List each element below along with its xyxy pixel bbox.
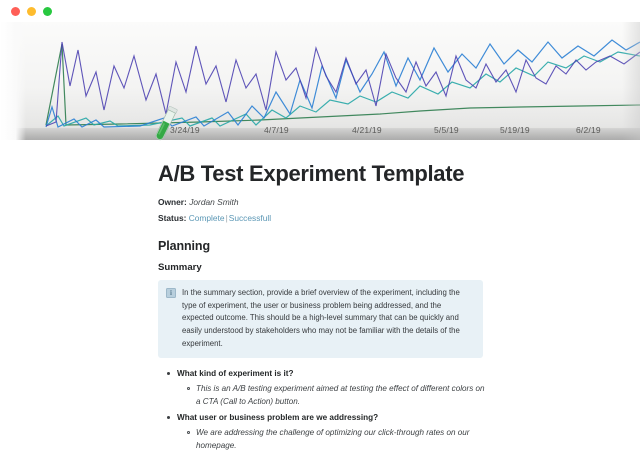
list-item: This is an A/B testing experiment aimed …	[158, 383, 488, 408]
maximize-button[interactable]	[43, 7, 52, 16]
question-list: What kind of experiment is it? This is a…	[158, 368, 488, 452]
bullet-answer: This is an A/B testing experiment aimed …	[196, 383, 488, 408]
sub-heading-summary: Summary	[158, 262, 488, 273]
axis-tick-label: 4/21/19	[352, 125, 382, 135]
close-button[interactable]	[11, 7, 20, 16]
document-content: A/B Test Experiment Template Owner: Jord…	[158, 162, 488, 452]
status-badge-complete[interactable]: Complete	[189, 213, 225, 223]
cover-line-chart	[0, 22, 640, 140]
window-controls	[11, 7, 52, 16]
status-row: Status: Complete|Successfull	[158, 212, 488, 224]
window-titlebar	[0, 0, 640, 22]
bullet-question-row: What kind of experiment is it?	[158, 368, 488, 380]
axis-tick-label: 5/19/19	[500, 125, 530, 135]
chart-x-axis-labels: 3/24/19 4/7/19 4/21/19 5/5/19 5/19/19 6/…	[0, 125, 640, 137]
axis-tick-label: 5/5/19	[434, 125, 459, 135]
minimize-button[interactable]	[27, 7, 36, 16]
bullet-disc-icon	[167, 372, 170, 375]
info-callout[interactable]: i In the summary section, provide a brie…	[158, 280, 483, 358]
owner-row: Owner: Jordan Smith	[158, 196, 488, 208]
bullet-answer: We are addressing the challenge of optim…	[196, 427, 488, 452]
owner-value: Jordan Smith	[189, 197, 238, 207]
cover-right-shadow	[622, 22, 640, 140]
list-item: We are addressing the challenge of optim…	[158, 427, 488, 452]
status-label: Status:	[158, 213, 186, 223]
bullet-circle-icon	[187, 387, 190, 390]
list-item: What user or business problem are we add…	[158, 412, 488, 452]
cover-left-highlight	[0, 22, 26, 140]
page-title: A/B Test Experiment Template	[158, 162, 488, 187]
answer-list: We are addressing the challenge of optim…	[158, 427, 488, 452]
section-heading-planning: Planning	[158, 239, 488, 253]
cover-image[interactable]: 3/24/19 4/7/19 4/21/19 5/5/19 5/19/19 6/…	[0, 22, 640, 140]
bullet-question: What user or business problem are we add…	[177, 412, 378, 424]
status-badge-successful[interactable]: Successfull	[229, 213, 271, 223]
axis-tick-label: 4/7/19	[264, 125, 289, 135]
bullet-question: What kind of experiment is it?	[177, 368, 293, 380]
callout-text: In the summary section, provide a brief …	[182, 287, 474, 350]
axis-tick-label: 6/2/19	[576, 125, 601, 135]
bullet-circle-icon	[187, 431, 190, 434]
list-item: What kind of experiment is it? This is a…	[158, 368, 488, 408]
bullet-disc-icon	[167, 416, 170, 419]
owner-label: Owner:	[158, 197, 187, 207]
answer-list: This is an A/B testing experiment aimed …	[158, 383, 488, 408]
bullet-question-row: What user or business problem are we add…	[158, 412, 488, 424]
info-icon: i	[166, 288, 176, 298]
document-body: A/B Test Experiment Template Owner: Jord…	[0, 140, 640, 452]
